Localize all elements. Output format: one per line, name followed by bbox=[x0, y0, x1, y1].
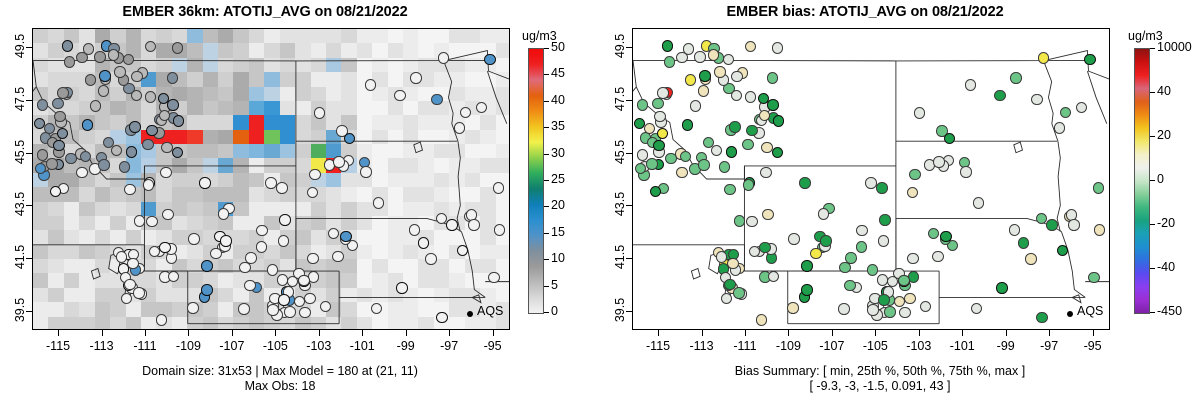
colorbar-tick bbox=[1150, 224, 1155, 225]
colorbar-tick-label: 40 bbox=[1157, 84, 1171, 98]
colorbar-tick-label: 20 bbox=[551, 198, 565, 212]
bias-colorbar-gradient bbox=[1134, 48, 1150, 314]
colorbar-tick-label: 25 bbox=[551, 172, 565, 186]
bias-panel: EMBER bias: ATOTIJ_AVG on 08/21/2022 AQS… bbox=[600, 0, 1200, 409]
colorbar-tick-label: 45 bbox=[551, 66, 565, 80]
colorbar-tick-label: 15 bbox=[551, 225, 565, 239]
model-panel: EMBER 36km: ATOTIJ_AVG on 08/21/2022 AQS… bbox=[0, 0, 600, 409]
colorbar-tick-label: 40 bbox=[551, 93, 565, 107]
colorbar-tick-label: 10 bbox=[551, 251, 565, 265]
colorbar-tick-label: 20 bbox=[1157, 128, 1171, 142]
colorbar-tick bbox=[544, 74, 549, 75]
colorbar-tick bbox=[544, 233, 549, 234]
colorbar-tick bbox=[1150, 48, 1155, 49]
colorbar-tick-label: 50 bbox=[551, 40, 565, 54]
colorbar-tick bbox=[1150, 136, 1155, 137]
model-colorbar: ug/m3 50454035302520151050 bbox=[0, 0, 600, 409]
colorbar-tick-label: -20 bbox=[1157, 216, 1175, 230]
colorbar-tick bbox=[1150, 268, 1155, 269]
colorbar-tick bbox=[544, 180, 549, 181]
colorbar-tick bbox=[1150, 312, 1155, 313]
colorbar-tick bbox=[544, 127, 549, 128]
colorbar-tick bbox=[544, 259, 549, 260]
colorbar-tick-label: 0 bbox=[1157, 172, 1164, 186]
colorbar-tick-label: 30 bbox=[551, 146, 565, 160]
colorbar-tick bbox=[1150, 180, 1155, 181]
colorbar-tick bbox=[544, 206, 549, 207]
colorbar-tick-label: 35 bbox=[551, 119, 565, 133]
colorbar-tick-label: -450 bbox=[1157, 304, 1182, 318]
colorbar-tick-label: 0 bbox=[551, 304, 558, 318]
colorbar-tick bbox=[544, 101, 549, 102]
colorbar-tick bbox=[544, 286, 549, 287]
colorbar-tick bbox=[544, 312, 549, 313]
colorbar-tick bbox=[1150, 92, 1155, 93]
colorbar-tick-label: -40 bbox=[1157, 260, 1175, 274]
colorbar-tick bbox=[544, 154, 549, 155]
colorbar-tick-label: 10000 bbox=[1157, 40, 1192, 54]
bias-colorbar: ug/m3 1000040200-20-40-450 bbox=[600, 0, 1200, 409]
model-colorbar-gradient bbox=[528, 48, 544, 314]
colorbar-tick bbox=[544, 48, 549, 49]
colorbar-tick-label: 5 bbox=[551, 278, 558, 292]
